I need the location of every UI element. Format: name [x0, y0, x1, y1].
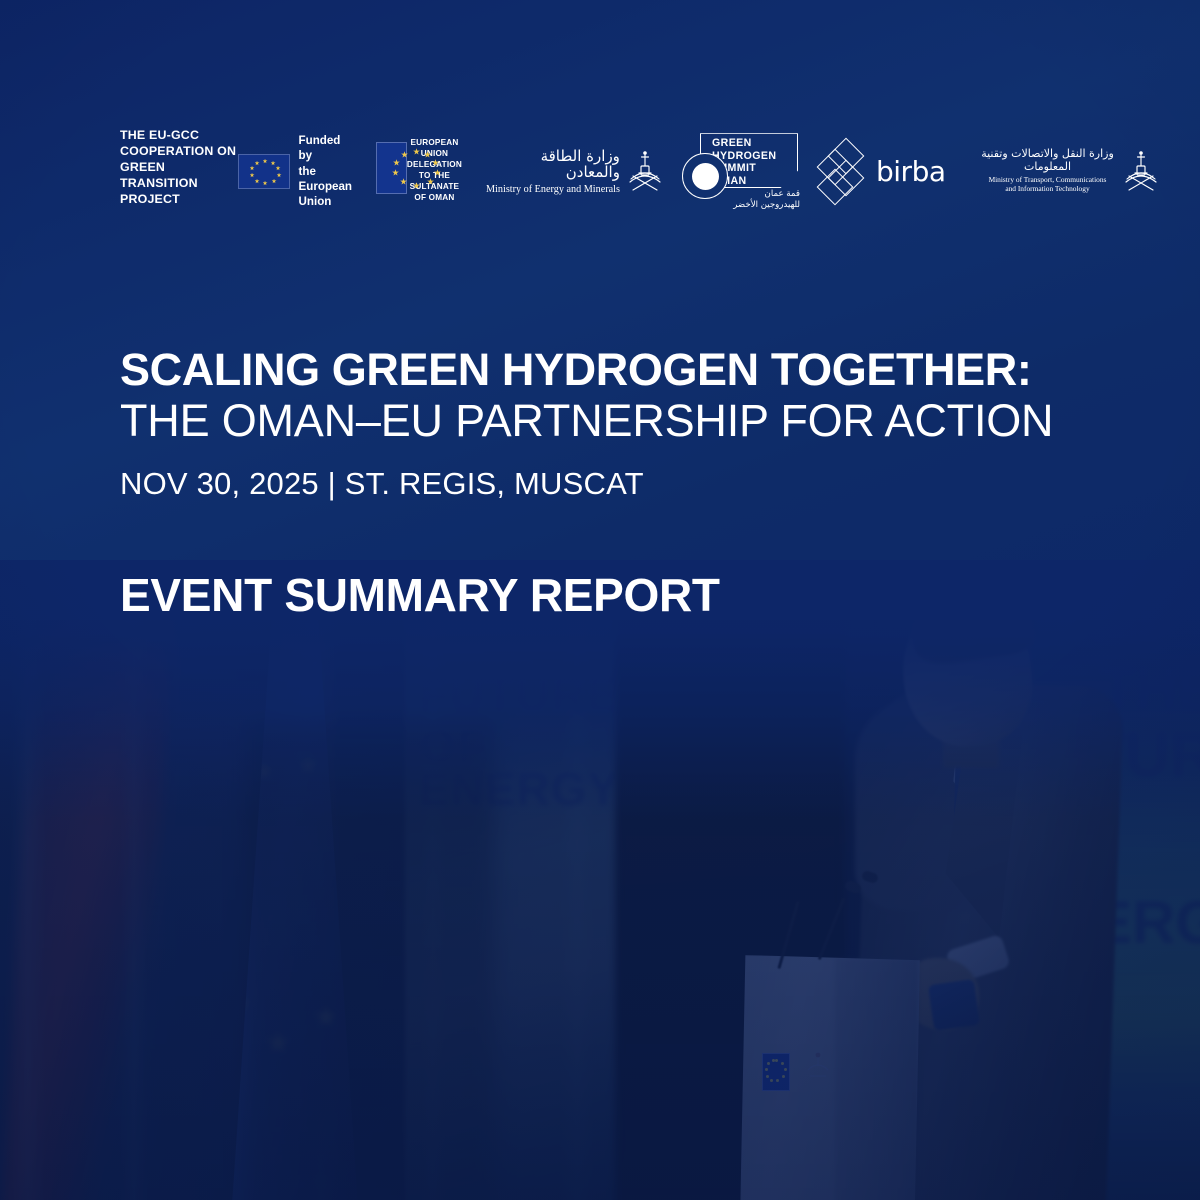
logo-birba: birba: [824, 145, 954, 197]
eu-gcc-heading-line2: GREEN TRANSITION PROJECT: [120, 160, 238, 208]
speaker-blue-card: [928, 979, 980, 1031]
solid-header-field: [0, 0, 1200, 620]
curtain-fold: [10, 600, 46, 1200]
ghs-dot-icon: [692, 163, 719, 190]
motc-english-line2: and Information Technology: [978, 184, 1117, 194]
moem-english-name: Ministry of Energy and Minerals: [486, 184, 620, 195]
oman-national-emblem-icon: [1124, 149, 1158, 193]
ghs-word-green: GREEN: [712, 137, 776, 150]
banner-future-text: FUTURE: [419, 668, 620, 723]
event-date-venue: NOV 30, 2025 | ST. REGIS, MUSCAT: [120, 466, 644, 502]
eu-flag-icon: [376, 142, 407, 194]
document-title: EVENT SUMMARY REPORT: [120, 568, 720, 622]
headline-line2: THE OMAN–EU PARTNERSHIP FOR ACTION: [120, 396, 1053, 446]
logo-green-hydrogen-summit-oman: GREEN HYDROGEN SUMMIT ⊙MAN قمة عمان للهي…: [682, 133, 800, 209]
headline-line1: SCALING GREEN HYDROGEN TOGETHER:: [120, 346, 1053, 394]
moem-arabic-name: وزارة الطاقة والمعادن: [486, 148, 620, 181]
podium-side-shade: [835, 958, 919, 1200]
curtain-fold: [120, 600, 148, 1200]
motc-english-line1: Ministry of Transport, Communications: [978, 175, 1117, 185]
motc-arabic-name: وزارة النقل والاتصالات وتقنية المعلومات: [978, 148, 1117, 172]
ghs-arabic-line1: قمة عمان: [733, 189, 800, 200]
partner-logo-strip: THE EU-GCC COOPERATION ON GREEN TRANSITI…: [120, 128, 1158, 214]
logo-eu-delegation-oman: EUROPEAN UNION DELEGATION TO THE SULTANA…: [376, 138, 462, 204]
podium-oman-emblem-icon: [800, 1046, 836, 1092]
birba-diamond-icon: [824, 145, 864, 197]
eu-funded-line2: the European Union: [299, 164, 352, 210]
event-headline: SCALING GREEN HYDROGEN TOGETHER: THE OMA…: [120, 346, 1053, 445]
ghs-circle-icon: [682, 153, 728, 199]
report-cover-page: FUTURE OF ENERGY EXPERIENCE THE FUTURE E…: [0, 0, 1200, 1200]
oman-national-emblem-icon: [628, 149, 662, 193]
eu-gcc-heading-line1: THE EU-GCC COOPERATION ON: [120, 128, 238, 160]
photo-speaker-at-podium: FUTURE OF ENERGY EXPERIENCE THE FUTURE E…: [0, 600, 1200, 1200]
stage-shadow: [245, 720, 495, 1200]
podium-eu-flag-icon: [762, 1053, 790, 1091]
logo-eu-gcc-green-transition: THE EU-GCC COOPERATION ON GREEN TRANSITI…: [120, 128, 352, 214]
ghs-arabic-line2: للهيدروجين الأخضر: [733, 200, 800, 211]
logo-ministry-transport-communications-it: وزارة النقل والاتصالات وتقنية المعلومات …: [978, 148, 1158, 193]
eu-funded-line1: Funded by: [299, 133, 352, 164]
birba-wordmark: birba: [876, 155, 946, 188]
eu-delegation-line1: EUROPEAN UNION: [407, 138, 462, 160]
logo-ministry-energy-minerals: وزارة الطاقة والمعادن Ministry of Energy…: [486, 148, 658, 195]
eu-flag-icon: [238, 154, 290, 189]
